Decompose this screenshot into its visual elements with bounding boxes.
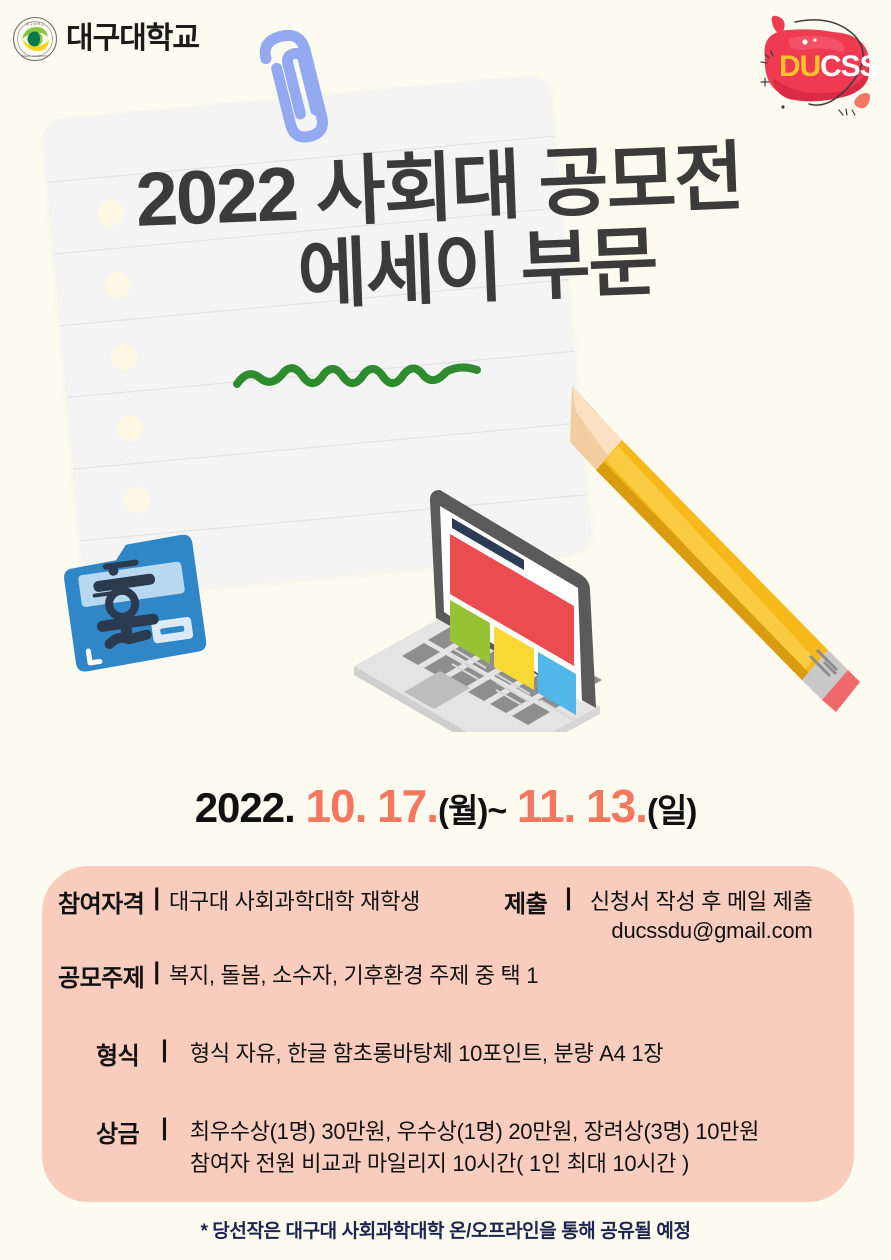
submit-value: 신청서 작성 후 메일 제출 <box>590 889 813 914</box>
qualification-label: 참여자격 <box>58 884 144 919</box>
info-row-prize: 상금 | 최우수상(1명) 30만원, 우수상(1명) 20만원, 장려상(3명… <box>96 1114 759 1178</box>
prize-label: 상금 <box>96 1114 139 1149</box>
poster-root: 대 구 대 학 교 DAEGU UNIVERSITY 대구대학교 DU CSS <box>0 0 891 1260</box>
date-end-month: 11. <box>517 780 575 832</box>
prize-divider: | <box>139 1114 190 1142</box>
date-end-day: 13. <box>586 780 647 832</box>
info-row-format: 형식 | 형식 자유, 한글 함초롱바탕체 10포인트, 분량 A4 1장 <box>96 1036 663 1071</box>
event-date-line: 2022. 10. 17.(월)~ 11. 13.(일) <box>0 779 891 833</box>
hun-id-card-icon <box>51 522 219 682</box>
info-row-qualification: 참여자격 | 대구대 사회과학대학 재학생 <box>58 884 420 919</box>
submit-label: 제출 <box>504 884 547 919</box>
prize-value-line-2: 참여자 전원 비교과 마일리지 10시간( 1인 최대 10시간 ) <box>190 1146 759 1178</box>
date-start-month: 10. <box>305 780 366 832</box>
footer-note: * 당선작은 대구대 사회과학대학 온/오프라인을 통해 공유될 예정 <box>0 1216 891 1243</box>
university-logo: 대 구 대 학 교 DAEGU UNIVERSITY 대구대학교 <box>12 16 199 62</box>
daegu-university-emblem-icon: 대 구 대 학 교 DAEGU UNIVERSITY <box>12 16 58 62</box>
topic-value: 복지, 돌봄, 소수자, 기후환경 주제 중 택 1 <box>169 958 538 990</box>
details-info-box: 참여자격 | 대구대 사회과학대학 재학생 제출 | 신청서 작성 후 메일 제… <box>42 866 854 1202</box>
submit-email[interactable]: ducssdu@gmail.com <box>590 918 813 944</box>
ducss-logo-du: DU <box>779 50 820 83</box>
date-end-dow: (일) <box>647 792 696 829</box>
pencil-illustration-icon <box>540 378 860 718</box>
topic-divider: | <box>144 958 169 986</box>
qualification-divider: | <box>144 884 169 912</box>
svg-text:DAEGU UNIVERSITY: DAEGU UNIVERSITY <box>22 54 49 58</box>
format-divider: | <box>139 1036 190 1064</box>
university-name: 대구대학교 <box>66 24 199 54</box>
date-range-tilde: ~ <box>487 792 506 830</box>
ducss-logo-icon: DU CSS <box>743 6 883 126</box>
submit-divider: | <box>547 884 590 912</box>
date-year: 2022. <box>195 784 295 831</box>
info-row-submit: 제출 | 신청서 작성 후 메일 제출 ducssdu@gmail.com <box>504 884 813 944</box>
date-start-dow: (월) <box>438 792 487 829</box>
topic-label: 공모주제 <box>58 958 144 993</box>
ducss-logo-css: CSS <box>820 50 879 83</box>
format-label: 형식 <box>96 1036 139 1071</box>
prize-value-line-1: 최우수상(1명) 30만원, 우수상(1명) 20만원, 장려상(3명) 10만… <box>190 1114 759 1146</box>
qualification-value: 대구대 사회과학대학 재학생 <box>169 884 420 916</box>
svg-text:대 구 대 학 교: 대 구 대 학 교 <box>26 21 44 26</box>
info-row-topic: 공모주제 | 복지, 돌봄, 소수자, 기후환경 주제 중 택 1 <box>58 958 538 993</box>
date-start-day: 17. <box>377 780 438 832</box>
format-value: 형식 자유, 한글 함초롱바탕체 10포인트, 분량 A4 1장 <box>190 1036 663 1068</box>
green-squiggle-underline-icon <box>232 358 482 392</box>
